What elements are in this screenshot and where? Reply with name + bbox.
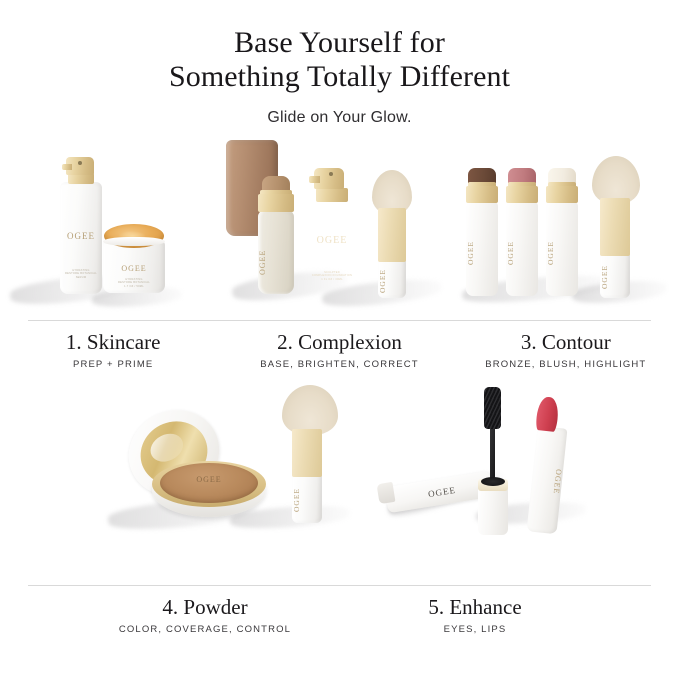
highlight-brand-wordmark: OGEE xyxy=(546,232,578,274)
contour-brush-bristles xyxy=(592,156,640,204)
pump-nozzle xyxy=(62,164,72,170)
product-group-enhance[interactable]: OGEE OGEE xyxy=(380,375,650,547)
lip-crayon-tip xyxy=(535,396,559,432)
blush-brand-wordmark: OGEE xyxy=(506,232,538,274)
bronze-stick-gold-band xyxy=(466,186,498,203)
serum-brand-wordmark: OGEE xyxy=(60,231,102,241)
section-divider-bottom xyxy=(28,585,651,586)
section-divider-top xyxy=(28,320,651,321)
powder-brush-wordmark: OGEE xyxy=(292,483,322,517)
foundation-pump-button-icon xyxy=(329,172,333,176)
step-descriptor: BRONZE, BLUSH, HIGHLIGHT xyxy=(453,359,679,370)
step-labels-bottom: 4. Powder COLOR, COVERAGE, CONTROL 5. En… xyxy=(0,594,679,635)
pump-button-icon xyxy=(78,161,82,165)
powder-brand-wordmark: OGEE xyxy=(160,475,258,484)
balm-jar-rim xyxy=(103,237,165,246)
highlight-stick-gold-band xyxy=(546,186,578,203)
foundation-pump-collar xyxy=(316,188,348,202)
step-item-skincare[interactable]: 1. Skincare PREP + PRIME xyxy=(0,329,226,370)
foundation-pump-nozzle xyxy=(309,176,320,183)
step-title: 3. Contour xyxy=(453,329,679,355)
product-group-contour[interactable]: OGEE OGEE OGEE xyxy=(452,140,679,315)
concealer-stick-gold-band xyxy=(258,194,294,212)
product-group-skincare[interactable]: OGEE HYDRATINGRESTORE BOTANICALSERUM OGE… xyxy=(0,140,226,315)
concealer-brand-wordmark: OGEE xyxy=(258,240,294,284)
step-title: 5. Enhance xyxy=(360,594,590,620)
mascara-tube-opening xyxy=(481,477,505,486)
step-descriptor: PREP + PRIME xyxy=(0,359,226,370)
step-descriptor: EYES, LIPS xyxy=(360,624,590,635)
step-title: 4. Powder xyxy=(50,594,360,620)
balm-brand-wordmark: OGEE xyxy=(103,264,165,273)
step-item-complexion[interactable]: 2. Complexion BASE, BRIGHTEN, CORRECT xyxy=(226,329,452,370)
foundation-brand-wordmark: OGEE xyxy=(306,235,358,246)
page-title-line-1: Base Yourself for xyxy=(234,26,445,59)
contour-brush-wordmark: OGEE xyxy=(600,260,630,294)
step-item-powder[interactable]: 4. Powder COLOR, COVERAGE, CONTROL xyxy=(50,594,360,635)
foundation-brush-wordmark: OGEE xyxy=(378,266,406,296)
powder-brush-bristles xyxy=(282,385,338,435)
page-header: Base Yourself for Something Totally Diff… xyxy=(0,0,679,127)
powder-brush-ferrule xyxy=(292,429,322,477)
promo-page: Base Yourself for Something Totally Diff… xyxy=(0,0,679,679)
balm-fineprint: HYDRATINGRESTORE BOTANICAL1.7 OZ / 50ML xyxy=(103,278,165,288)
page-title: Base Yourself for Something Totally Diff… xyxy=(0,26,679,94)
serum-fineprint: HYDRATINGRESTORE BOTANICALSERUM xyxy=(60,269,102,279)
mascara-brush-icon xyxy=(484,387,501,429)
foundation-brush-ferrule xyxy=(378,208,406,262)
step-labels-top: 1. Skincare PREP + PRIME 2. Complexion B… xyxy=(0,329,679,370)
product-group-complexion[interactable]: OGEE OGEE SCULPTEDCOMPLEXION FOUNDATION1… xyxy=(226,140,452,315)
mascara-tube-body xyxy=(478,487,508,535)
page-title-line-2: Something Totally Different xyxy=(0,60,679,94)
contour-brush-ferrule xyxy=(600,198,630,256)
step-item-contour[interactable]: 3. Contour BRONZE, BLUSH, HIGHLIGHT xyxy=(453,329,679,370)
blush-stick-gold-band xyxy=(506,186,538,203)
step-descriptor: COLOR, COVERAGE, CONTROL xyxy=(50,624,360,635)
product-row-top: OGEE HYDRATINGRESTORE BOTANICALSERUM OGE… xyxy=(0,140,679,315)
step-title: 2. Complexion xyxy=(226,329,452,355)
step-item-enhance[interactable]: 5. Enhance EYES, LIPS xyxy=(360,594,590,635)
step-descriptor: BASE, BRIGHTEN, CORRECT xyxy=(226,359,452,370)
product-row-bottom: OGEE OGEE OGEE OGEE xyxy=(0,375,679,547)
page-subtitle: Glide on Your Glow. xyxy=(0,109,679,127)
lip-crayon-wordmark: OGEE xyxy=(530,460,564,503)
step-title: 1. Skincare xyxy=(0,329,226,355)
bronze-brand-wordmark: OGEE xyxy=(466,232,498,274)
foundation-fineprint: SCULPTEDCOMPLEXION FOUNDATION1 FL OZ / 3… xyxy=(306,271,358,281)
product-group-powder[interactable]: OGEE OGEE xyxy=(100,375,380,547)
lash-wand-tip xyxy=(377,482,396,504)
